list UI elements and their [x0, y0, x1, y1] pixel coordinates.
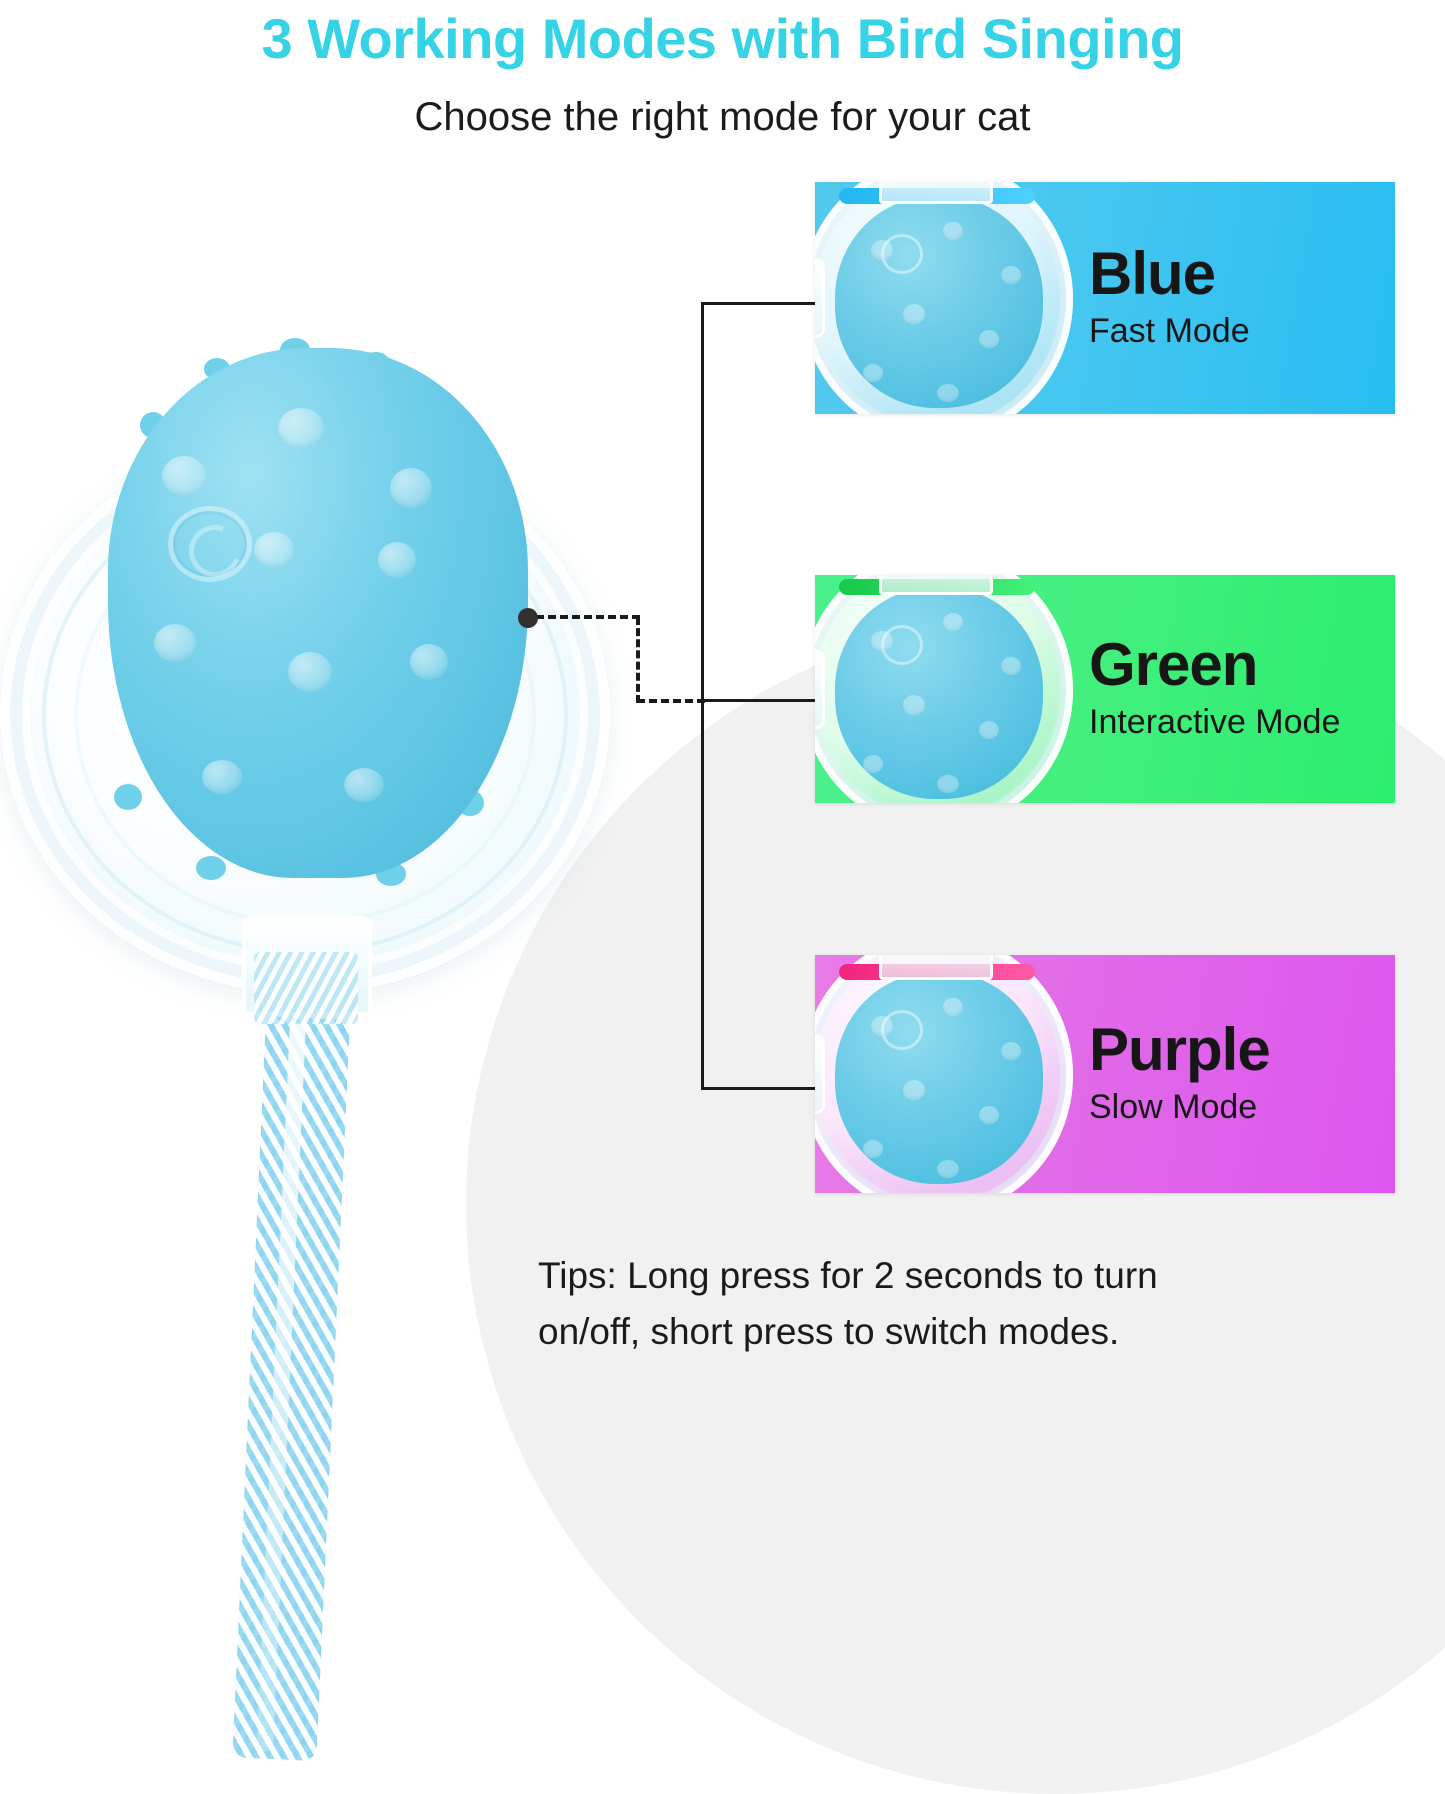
edge-bump [196, 856, 226, 880]
mini-bump [943, 613, 963, 631]
surface-bump [378, 542, 416, 578]
mini-bump [979, 721, 999, 739]
surface-bump [154, 624, 196, 662]
mode-label-green: Interactive Mode [1089, 701, 1379, 744]
mini-bump [1001, 266, 1021, 284]
surface-bump [254, 532, 294, 568]
mode-ball-green [815, 575, 1083, 803]
callout-spine [701, 302, 704, 1089]
mini-bump [903, 304, 925, 324]
mini-top-cap [879, 575, 993, 595]
product-collar-texture [254, 952, 358, 1024]
power-button-callout-dot [518, 608, 538, 628]
mode-card-blue-text: Blue Fast Mode [1089, 244, 1379, 353]
mini-bump [863, 1140, 883, 1158]
main-product-image [0, 316, 630, 1446]
mini-bump [1001, 657, 1021, 675]
mode-name-purple: Purple [1089, 1020, 1379, 1080]
callout-branch-purple [701, 1087, 819, 1090]
surface-bump [288, 652, 332, 692]
callout-dashed-segment-1 [536, 615, 640, 619]
page-subtitle: Choose the right mode for your cat [0, 95, 1445, 140]
mini-bump [979, 330, 999, 348]
mini-side-nub [815, 258, 825, 338]
mini-bump [937, 384, 959, 402]
surface-bump [202, 760, 242, 794]
mini-bump [979, 1106, 999, 1124]
mini-bump [863, 755, 883, 773]
surface-bump [162, 456, 206, 496]
mini-bump [1001, 1042, 1021, 1060]
mini-bump [943, 222, 963, 240]
mode-ball-purple [815, 955, 1083, 1193]
mini-bump [871, 240, 893, 260]
callout-dashed-segment-2 [636, 617, 640, 703]
mode-card-blue[interactable]: Blue Fast Mode [815, 182, 1395, 414]
mode-card-green-text: Green Interactive Mode [1089, 635, 1379, 744]
mini-bump [903, 695, 925, 715]
edge-bump [114, 784, 142, 810]
mini-bump [871, 631, 893, 651]
surface-bump [278, 408, 324, 448]
mode-name-blue: Blue [1089, 244, 1379, 304]
brand-logo-emboss [168, 506, 252, 582]
tips-text: Tips: Long press for 2 seconds to turn o… [538, 1248, 1258, 1360]
mini-bump [937, 1160, 959, 1178]
mode-label-blue: Fast Mode [1089, 310, 1379, 353]
mini-bump [903, 1080, 925, 1100]
mini-top-cap [879, 955, 993, 980]
callout-branch-green [701, 699, 819, 702]
mode-card-green[interactable]: Green Interactive Mode [815, 575, 1395, 803]
surface-bump [344, 768, 384, 802]
mode-ball-blue [815, 182, 1083, 414]
mode-card-purple-text: Purple Slow Mode [1089, 1020, 1379, 1129]
mode-name-green: Green [1089, 635, 1379, 695]
mini-bump [937, 775, 959, 793]
mini-bump [863, 364, 883, 382]
page-title: 3 Working Modes with Bird Singing [0, 6, 1445, 71]
mini-bump [943, 998, 963, 1016]
callout-branch-blue [701, 302, 819, 305]
mini-side-nub [815, 1034, 825, 1114]
surface-bump [410, 644, 448, 680]
mini-side-nub [815, 649, 825, 729]
mini-bump [871, 1016, 893, 1036]
mini-top-cap [879, 182, 993, 204]
mode-card-purple[interactable]: Purple Slow Mode [815, 955, 1395, 1193]
callout-dashed-segment-3 [637, 699, 705, 703]
surface-bump [390, 468, 432, 508]
mode-label-purple: Slow Mode [1089, 1086, 1379, 1129]
